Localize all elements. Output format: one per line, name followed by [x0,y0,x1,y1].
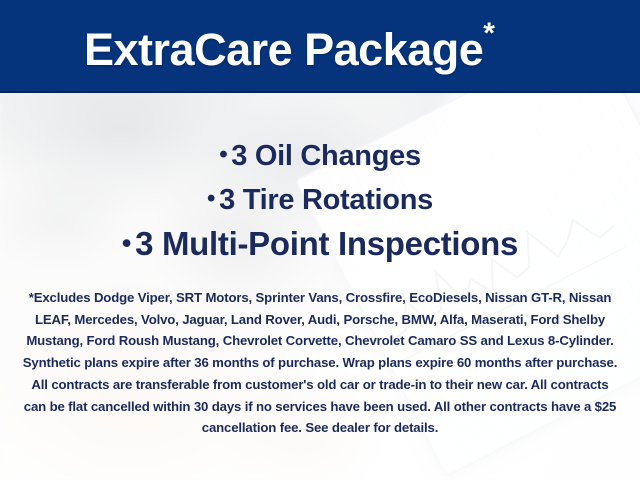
benefit-label: 3 Multi-Point Inspections [135,225,518,262]
benefits-list: •3 Oil Changes •3 Tire Rotations •3 Mult… [0,136,640,270]
bullet-icon: • [207,185,215,212]
disclaimer-text: *Excludes Dodge Viper, SRT Motors, Sprin… [22,287,618,439]
bullet-icon: • [219,141,227,168]
benefit-label: 3 Tire Rotations [219,184,433,216]
page-title-text: ExtraCare Package [84,24,483,75]
list-item: •3 Oil Changes [0,136,640,180]
list-item: •3 Multi-Point Inspections [0,224,640,270]
bullet-icon: • [122,228,131,258]
page-title: ExtraCare Package* [0,19,494,72]
title-asterisk: * [483,17,494,50]
extracare-package-ad: ExtraCare Package* •3 Oil Changes •3 Tir… [0,0,640,480]
header-banner: ExtraCare Package* [0,0,640,93]
benefit-label: 3 Oil Changes [231,140,421,172]
list-item: •3 Tire Rotations [0,180,640,224]
